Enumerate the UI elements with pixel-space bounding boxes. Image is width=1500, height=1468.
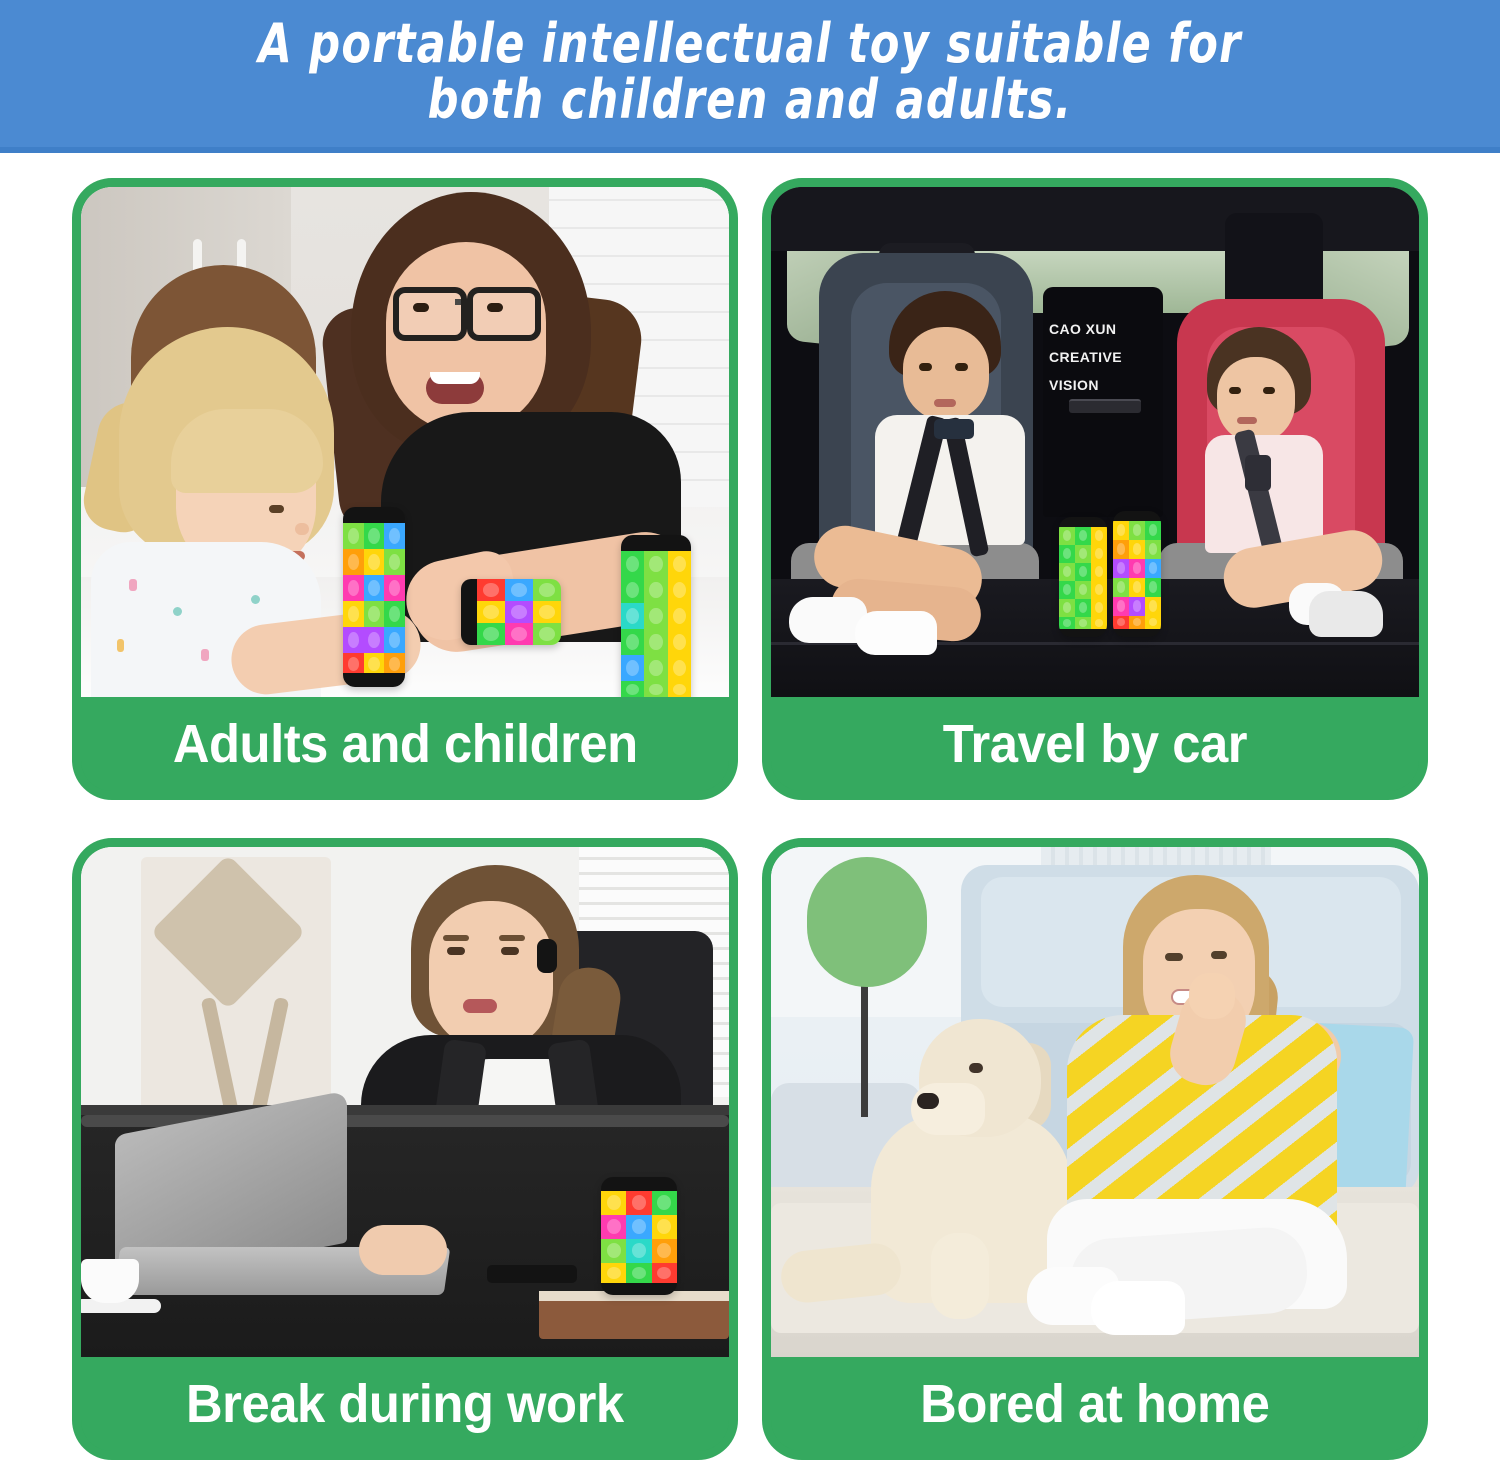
woman-eye-right xyxy=(1211,951,1227,959)
photo-adults-and-children xyxy=(81,187,729,697)
woman-eyebrow-right xyxy=(499,935,525,941)
woman-eye-left xyxy=(413,303,429,312)
feature-card-adults-and-children[interactable]: Adults and children xyxy=(72,178,738,800)
card-caption-text: Bored at home xyxy=(920,1373,1269,1435)
puzzle-toy-tower xyxy=(343,507,405,687)
girl-nose xyxy=(295,523,309,535)
header-title-line1: A portable intellectual toy suitable for xyxy=(150,16,1350,72)
card-caption-text: Travel by car xyxy=(943,713,1247,775)
card-caption-adults-and-children: Adults and children xyxy=(81,697,729,791)
woman-eye-left xyxy=(1165,953,1183,961)
woman-eye-right xyxy=(487,303,503,312)
girl-face xyxy=(1217,357,1295,443)
header-banner: A portable intellectual toy suitable for… xyxy=(0,0,1500,147)
wireless-earbud xyxy=(537,939,557,973)
card-caption-break-during-work: Break during work xyxy=(81,1357,729,1451)
feature-card-break-during-work[interactable]: Break during work xyxy=(72,838,738,1460)
sneaker-right xyxy=(1091,1281,1185,1335)
watermark-line-3: VISION xyxy=(1049,377,1099,393)
shirt-print-dot xyxy=(201,649,209,661)
dog-nose xyxy=(917,1093,939,1109)
boy-bow-tie xyxy=(934,419,974,439)
puzzle-toy-tower-lying xyxy=(461,579,561,645)
seat-belt-clip xyxy=(1245,455,1271,491)
girl-shoe xyxy=(1309,591,1383,637)
boy-eye-right xyxy=(955,363,968,371)
shirt-print-dot xyxy=(129,579,137,591)
dog-eye xyxy=(969,1063,983,1073)
feature-card-bored-at-home[interactable]: Bored at home xyxy=(762,838,1428,1460)
scene-living-room xyxy=(771,847,1419,1357)
feature-card-grid: Adults and children CAO XUN CREATIVE VIS… xyxy=(0,163,1500,1463)
woman-mouth xyxy=(426,372,484,404)
puzzle-toy-tower xyxy=(621,535,691,697)
card-caption-text: Adults and children xyxy=(173,713,638,775)
boy-eye-left xyxy=(919,363,932,371)
scene-office-desk xyxy=(81,847,729,1357)
boy-mouth xyxy=(934,399,956,407)
photo-bored-at-home xyxy=(771,847,1419,1357)
plant-stem xyxy=(861,977,868,1117)
scene-kitchen xyxy=(81,187,729,697)
boy-shoe-right xyxy=(855,611,937,655)
puzzle-toy-tower xyxy=(1113,511,1161,637)
puzzle-toy-tower xyxy=(601,1177,677,1295)
header-underline xyxy=(0,147,1500,153)
photo-travel-by-car: CAO XUN CREATIVE VISION xyxy=(771,187,1419,697)
shirt-print-dot xyxy=(173,607,182,616)
feature-card-travel-by-car[interactable]: CAO XUN CREATIVE VISION xyxy=(762,178,1428,800)
scene-car-interior: CAO XUN CREATIVE VISION xyxy=(771,187,1419,697)
girl-eye-left xyxy=(1229,387,1241,394)
dog-leg xyxy=(931,1233,989,1319)
card-caption-travel-by-car: Travel by car xyxy=(771,697,1419,791)
watermark-line-1: CAO XUN xyxy=(1049,321,1116,337)
watermark-line-2: CREATIVE xyxy=(1049,349,1122,365)
photo-break-during-work xyxy=(81,847,729,1357)
woman-eye-left xyxy=(447,947,465,955)
woman-hand xyxy=(1189,973,1235,1019)
glasses-left-lens xyxy=(393,287,467,341)
potted-plant xyxy=(807,857,927,987)
woman-hand xyxy=(359,1225,447,1275)
dog-snout xyxy=(911,1083,985,1135)
header-title: A portable intellectual toy suitable for… xyxy=(150,16,1350,128)
card-caption-text: Break during work xyxy=(186,1373,624,1435)
glasses-right-lens xyxy=(467,287,541,341)
shirt-print-dot xyxy=(251,595,260,604)
woman-mouth xyxy=(463,999,497,1013)
woman-eye-right xyxy=(501,947,519,955)
coffee-cup xyxy=(81,1259,139,1303)
girl-bangs xyxy=(171,409,323,493)
card-caption-bored-at-home: Bored at home xyxy=(771,1357,1419,1451)
console-slot xyxy=(1069,399,1141,413)
girl-eye xyxy=(269,505,284,513)
smartphone xyxy=(487,1265,577,1283)
girl-eye-right xyxy=(1263,387,1275,394)
puzzle-toy-tower xyxy=(1059,517,1107,637)
girl-mouth xyxy=(1237,417,1257,424)
woman-face xyxy=(429,901,553,1051)
shirt-print-dot xyxy=(117,639,124,652)
apple-logo-icon xyxy=(205,1167,235,1203)
woman-eyebrow-left xyxy=(443,935,469,941)
header-title-line2: both children and adults. xyxy=(150,72,1350,128)
